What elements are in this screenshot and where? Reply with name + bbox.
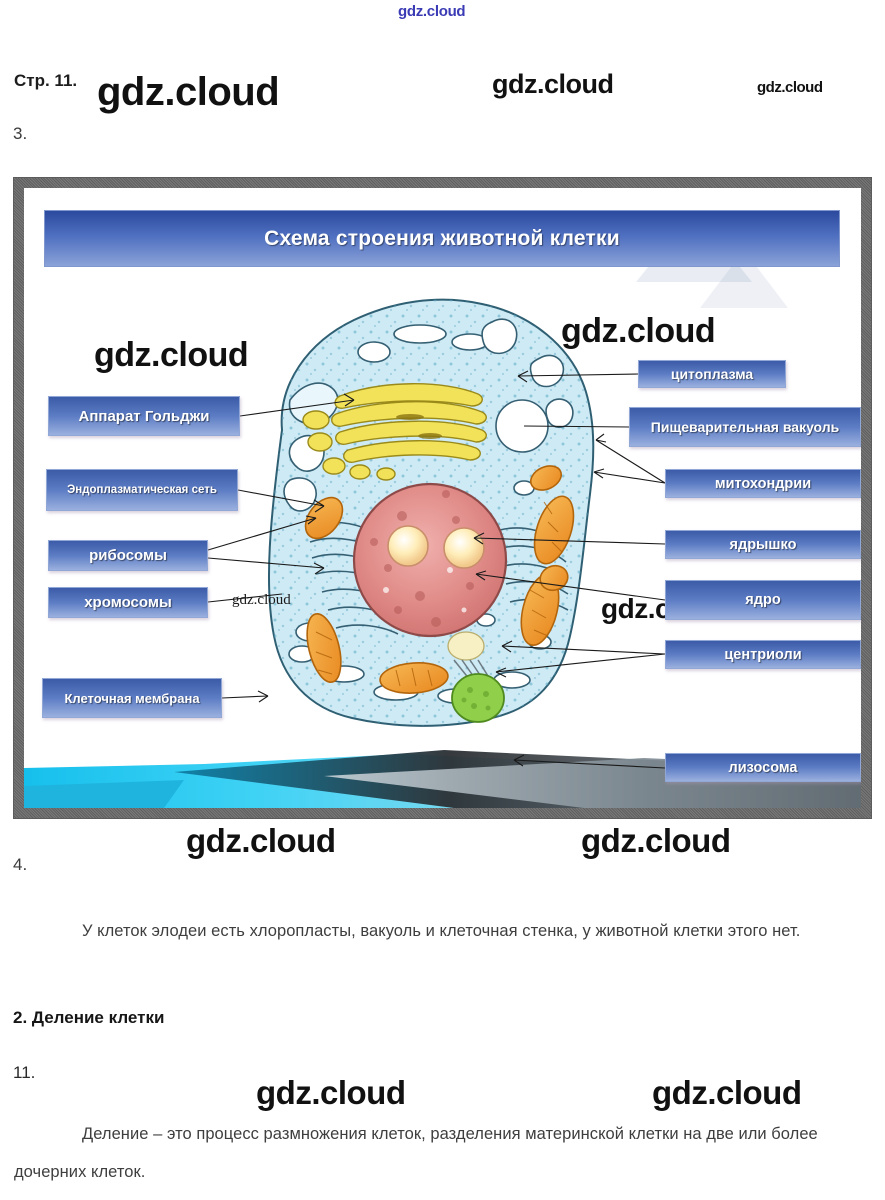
- watermark-footer-right: gdz.cloud: [652, 1074, 801, 1112]
- label-chromosomes[interactable]: хромосомы: [48, 587, 208, 618]
- animal-cell-illustration: [224, 280, 644, 768]
- watermark-header-mid: gdz.cloud: [492, 69, 613, 100]
- watermark-below-left: gdz.cloud: [186, 822, 335, 860]
- slide-canvas: Схема строения животной клетки: [24, 188, 861, 808]
- label-endoplasmic-reticulum[interactable]: Эндоплазматическая сеть: [46, 469, 238, 511]
- label-mitochondria[interactable]: митохондрии: [665, 469, 861, 498]
- watermark-footer-left: gdz.cloud: [256, 1074, 405, 1112]
- label-golgi-apparatus[interactable]: Аппарат Гольджи: [48, 396, 240, 436]
- answer-paragraph-11: Деление – это процесс размножения клеток…: [14, 1115, 870, 1191]
- section-heading-cell-division: 2. Деление клетки: [13, 1008, 164, 1028]
- label-ribosomes[interactable]: рибосомы: [48, 540, 208, 571]
- watermark-header-small: gdz.cloud: [757, 79, 823, 96]
- diagram-frame: Схема строения животной клетки: [14, 178, 871, 818]
- watermark-top-blue: gdz.cloud: [398, 3, 465, 20]
- label-nucleus[interactable]: ядро: [665, 580, 861, 620]
- watermark-below-right: gdz.cloud: [581, 822, 730, 860]
- label-digestive-vacuole[interactable]: Пищеварительная вакуоль: [629, 407, 861, 447]
- watermark-header-large: gdz.cloud: [97, 70, 279, 115]
- label-cell-membrane[interactable]: Клеточная мембрана: [42, 678, 222, 718]
- page-number-label: Стр. 11.: [14, 71, 77, 91]
- task-number-4: 4.: [13, 855, 27, 875]
- answer-paragraph-4: У клеток элодеи есть хлоропласты, вакуол…: [14, 912, 870, 950]
- task-number-11: 11.: [13, 1063, 35, 1083]
- slide-title: Схема строения животной клетки: [44, 210, 840, 267]
- task-number-3: 3.: [13, 124, 27, 144]
- label-cytoplasm[interactable]: цитоплазма: [638, 360, 786, 388]
- label-lysosome[interactable]: лизосома: [665, 753, 861, 782]
- cell-svg: [224, 280, 644, 768]
- label-nucleolus[interactable]: ядрышко: [665, 530, 861, 559]
- label-centrioles[interactable]: центриоли: [665, 640, 861, 669]
